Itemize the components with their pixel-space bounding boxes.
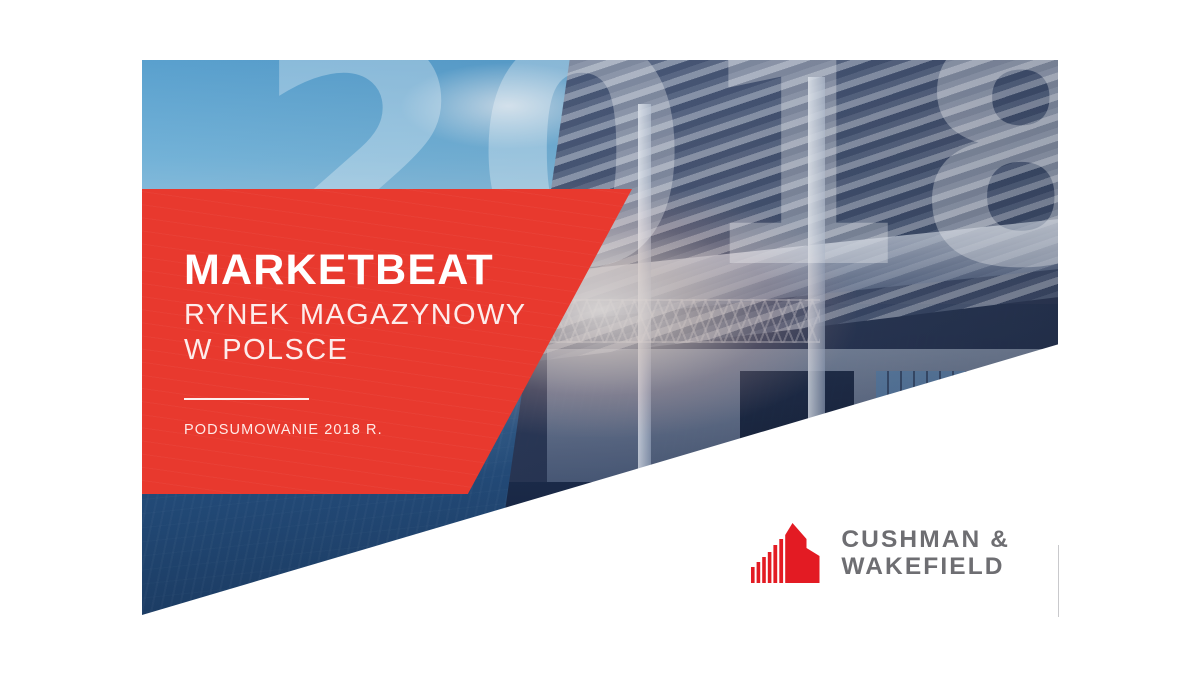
subtitle-line-1: RYNEK MAGAZYNOWY — [184, 298, 584, 333]
logo-wordmark-line-2: WAKEFIELD — [841, 553, 1010, 580]
cover-slide: 2018 MARKETBEAT RYNEK MAGAZYNOWY W POLSC… — [142, 60, 1058, 615]
subtitle-line-2: W POLSCE — [184, 333, 584, 368]
title-block: MARKETBEAT RYNEK MAGAZYNOWY W POLSCE POD… — [184, 249, 584, 438]
right-edge-hairline — [1058, 545, 1059, 617]
slide-page: 2018 MARKETBEAT RYNEK MAGAZYNOWY W POLSC… — [0, 0, 1200, 675]
logo-wordmark: CUSHMAN & WAKEFIELD — [841, 526, 1010, 581]
cushman-wakefield-logo: CUSHMAN & WAKEFIELD — [751, 523, 1010, 583]
page-title: MARKETBEAT — [184, 249, 584, 292]
title-divider — [184, 398, 309, 400]
logo-wordmark-line-1: CUSHMAN & — [841, 526, 1010, 553]
summary-note: PODSUMOWANIE 2018 R. — [184, 422, 584, 438]
cushman-wakefield-buildings-icon — [751, 523, 825, 583]
